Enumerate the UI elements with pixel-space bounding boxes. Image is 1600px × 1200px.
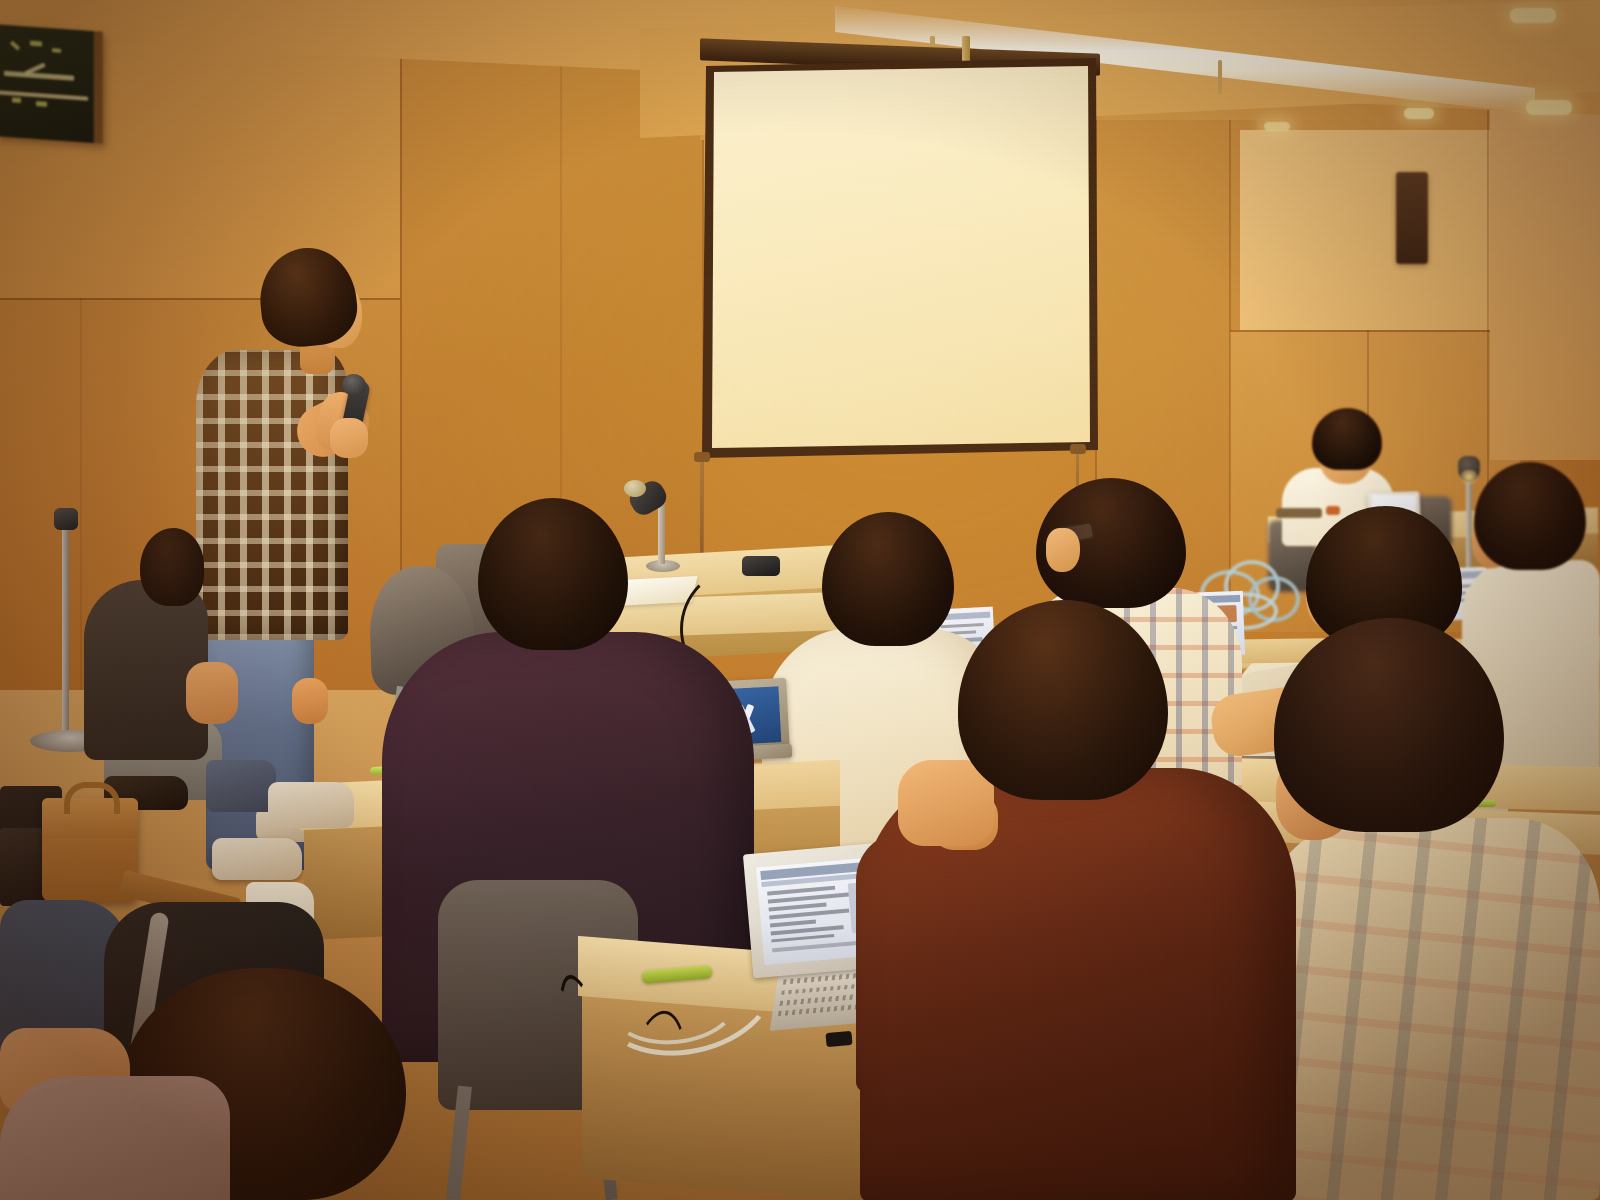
attendee-plaid-face — [1046, 528, 1080, 572]
briefcase-handle — [64, 782, 120, 814]
presenter-hand-left — [292, 678, 328, 724]
mic-light-icon — [1460, 470, 1478, 484]
screen-bracket — [1070, 444, 1086, 454]
projection-screen — [712, 66, 1090, 448]
presenter-torso — [196, 350, 348, 640]
wall-seam — [80, 298, 82, 698]
microphone-icon — [624, 480, 646, 497]
attendee-far-right-hair — [1474, 462, 1586, 570]
attendee-striped-torso — [1258, 818, 1600, 1200]
shoe — [206, 760, 276, 812]
presenter-hand — [330, 418, 368, 458]
downlight-icon — [1404, 108, 1434, 119]
wall-speaker-icon — [1396, 172, 1428, 264]
ceiling-hook-icon — [1218, 60, 1222, 94]
shoe — [268, 782, 354, 828]
wall-clock-sign — [0, 24, 103, 143]
presenter-shoe — [212, 838, 302, 880]
downlight-icon — [1526, 100, 1572, 115]
wall-panel-right-lit — [1240, 130, 1500, 360]
rear-desk-object — [1326, 506, 1340, 515]
screen-bracket — [694, 452, 710, 462]
seminar-room-photo — [0, 0, 1600, 1200]
desk-mic-pole — [658, 500, 665, 564]
downlight-icon — [1510, 8, 1556, 23]
mic-clip-icon — [54, 508, 78, 530]
downlight-icon — [1264, 122, 1290, 131]
crouching-person-arm — [186, 662, 238, 724]
laptop-port — [825, 1031, 852, 1047]
crouching-person-hair — [140, 528, 204, 606]
rear-desk-object — [1276, 508, 1322, 518]
moderator-hair — [1312, 408, 1382, 470]
foreground-shoulder — [0, 1076, 230, 1200]
mic-stand-left — [62, 512, 69, 742]
attendee-white-hair — [822, 512, 954, 646]
